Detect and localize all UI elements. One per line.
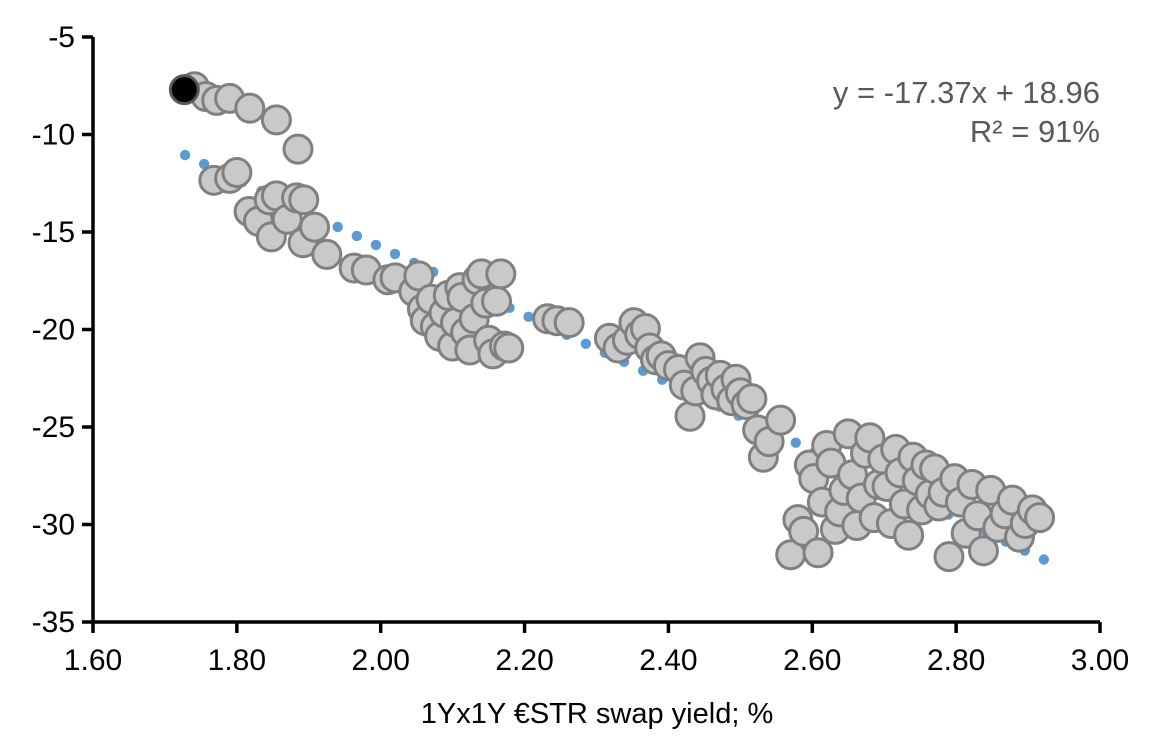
x-axis-title: 1Yx1Y €STR swap yield; % [421,698,773,730]
scatter-point [767,406,795,434]
x-tick-label: 2.00 [352,644,410,677]
x-tick-label: 2.20 [495,644,553,677]
highlighted-point [170,76,198,104]
trendline-dot [581,339,591,349]
y-tick-label: -10 [32,119,75,152]
trendline-dot [390,249,400,259]
scatter-point [284,135,312,163]
trendline-dot [352,231,362,241]
scatter-point [301,213,329,241]
x-tick-label: 1.80 [208,644,266,677]
y-tick-label: -35 [32,606,75,639]
scatter-point [1026,504,1054,532]
x-tick-label: 2.80 [927,644,985,677]
x-tick-label: 1.60 [64,644,122,677]
scatter-point [483,287,511,315]
scatter-point [262,106,290,134]
trendline-dot [371,240,381,250]
scatter-point [895,521,923,549]
y-tick-label: -25 [32,411,75,444]
trendline-dot [180,150,190,160]
trendline-equation-label: y = -17.37x + 18.96 [833,75,1100,110]
y-tick-label: -30 [32,509,75,542]
scatter-point [223,159,251,187]
scatter-point [676,402,704,430]
scatter-point [935,543,963,571]
highlighted-scatter-point [170,76,198,104]
chart-background [0,0,1152,745]
scatter-point [738,385,766,413]
scatter-point [804,539,832,567]
x-tick-label: 2.60 [783,644,841,677]
scatter-point [555,309,583,337]
scatter-point [495,334,523,362]
y-tick-label: -15 [32,216,75,249]
scatter-chart: -5-10-15-20-25-30-35 1.601.802.002.202.4… [0,0,1152,745]
trendline-dot [791,437,801,447]
y-tick-label: -5 [48,21,75,54]
trendline-dot [333,222,343,232]
x-tick-label: 3.00 [1071,644,1129,677]
y-tick-label: -20 [32,314,75,347]
r-squared-label: R² = 91% [970,114,1100,149]
x-tick-label: 2.40 [639,644,697,677]
scatter-point [236,94,264,122]
scatter-point [290,186,318,214]
chart-canvas: -5-10-15-20-25-30-35 1.601.802.002.202.4… [0,0,1152,745]
trendline-dot [1039,554,1049,564]
scatter-point [487,260,515,288]
scatter-point [313,240,341,268]
